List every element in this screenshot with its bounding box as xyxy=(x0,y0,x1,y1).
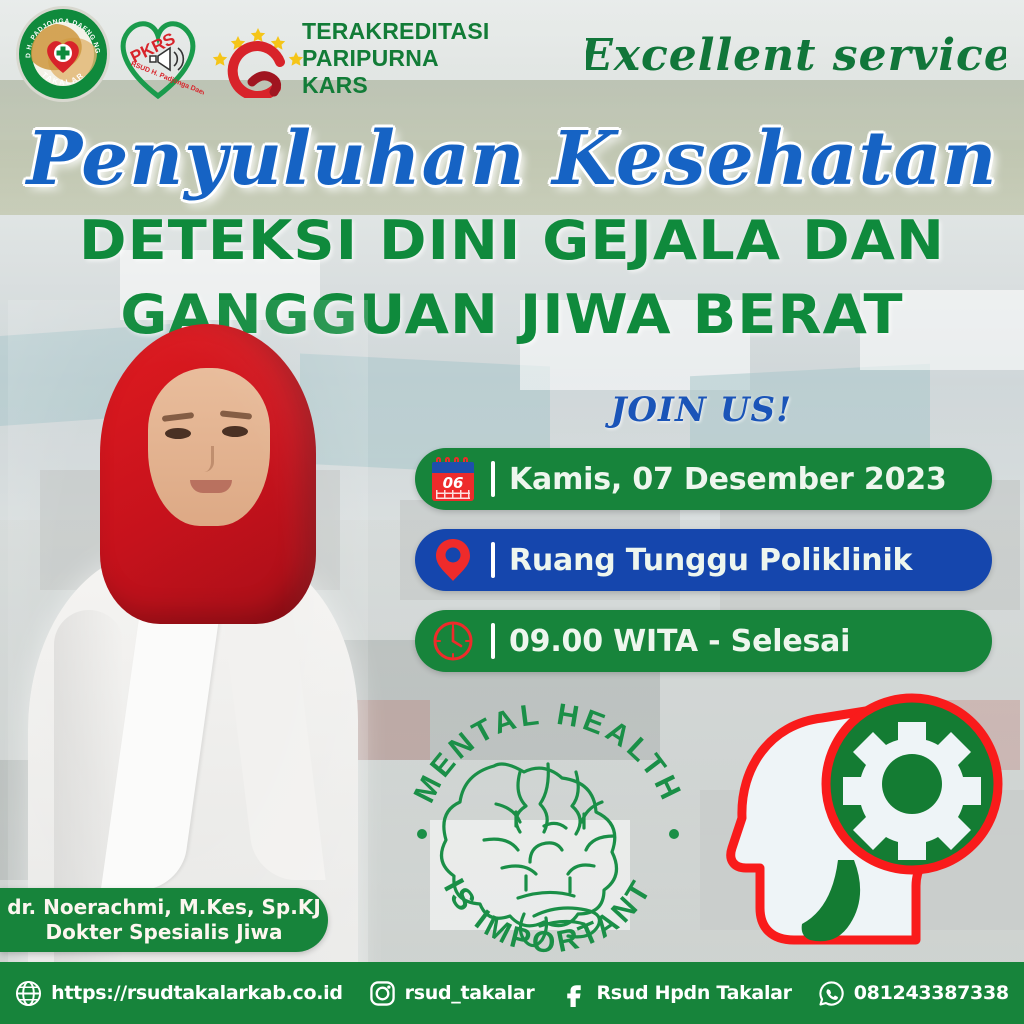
whatsapp-label: 081243387338 xyxy=(854,982,1009,1004)
accreditation-line-1: TERAKREDITASI xyxy=(302,18,489,45)
contact-footer: https://rsudtakalarkab.co.id rsud_takala… xyxy=(0,962,1024,1024)
footer-item-whatsapp[interactable]: 081243387338 xyxy=(818,980,1009,1007)
poster-header: RSUD H. PADJONGA DAENG NGALLE TAKALAR PK… xyxy=(0,0,1024,112)
tagline-text: Excellent service xyxy=(586,30,1006,81)
svg-text:IS IMPORTANT: IS IMPORTANT xyxy=(437,873,659,959)
head-with-gear-graphic xyxy=(726,672,1006,962)
pkrs-logo: PKRS RSUD H. Padjonga Daeng Ngalle xyxy=(112,10,204,102)
instagram-label: rsud_takalar xyxy=(405,982,535,1004)
accreditation-line-3: KARS xyxy=(302,72,489,99)
location-pin-icon xyxy=(415,529,491,591)
mental-health-bottom-text: IS IMPORTANT xyxy=(437,873,659,959)
whatsapp-icon xyxy=(818,980,845,1007)
speaker-name-banner: dr. Noerachmi, M.Kes, Sp.KJ Dokter Spesi… xyxy=(0,888,328,952)
event-location-text: Ruang Tunggu Poliklinik xyxy=(495,543,912,578)
accreditation-line-2: PARIPURNA xyxy=(302,45,489,72)
event-time-text: 09.00 WITA - Selesai xyxy=(495,624,850,659)
svg-text:MENTAL HEALTH: MENTAL HEALTH xyxy=(408,698,689,808)
health-promotion-poster: RSUD H. PADJONGA DAENG NGALLE TAKALAR PK… xyxy=(0,0,1024,1024)
excellent-service-tagline: Excellent service xyxy=(586,14,1006,96)
clock-icon xyxy=(415,610,491,672)
mental-health-badge: MENTAL HEALTH IS IMPORTANT xyxy=(398,686,698,966)
event-time-bar: 09.00 WITA - Selesai xyxy=(415,610,992,672)
event-date-text: Kamis, 07 Desember 2023 xyxy=(495,462,947,497)
event-date-bar: 06 Kamis, 07 Desember 2023 xyxy=(415,448,992,510)
gear-icon xyxy=(843,722,981,860)
footer-item-facebook[interactable]: Rsud Hpdn Takalar xyxy=(560,980,791,1007)
svg-text:TAKALAR: TAKALAR xyxy=(40,70,86,87)
facebook-icon xyxy=(560,980,587,1007)
globe-icon xyxy=(15,980,42,1007)
svg-text:RSUD H. PADJONGA DAENG NGALLE: RSUD H. PADJONGA DAENG NGALLE xyxy=(19,9,101,58)
hospital-seal-logo: RSUD H. PADJONGA DAENG NGALLE TAKALAR xyxy=(16,6,110,102)
seal-ring-text: RSUD H. PADJONGA DAENG NGALLE TAKALAR xyxy=(19,9,107,99)
footer-item-website[interactable]: https://rsudtakalarkab.co.id xyxy=(15,980,342,1007)
instagram-icon xyxy=(369,980,396,1007)
speaker-name: dr. Noerachmi, M.Kes, Sp.KJ xyxy=(7,895,321,920)
mental-health-top-text: MENTAL HEALTH xyxy=(408,698,689,808)
facebook-label: Rsud Hpdn Takalar xyxy=(596,982,791,1004)
website-label: https://rsudtakalarkab.co.id xyxy=(51,982,342,1004)
event-location-bar: Ruang Tunggu Poliklinik xyxy=(415,529,992,591)
footer-item-instagram[interactable]: rsud_takalar xyxy=(369,980,535,1007)
calendar-icon: 06 xyxy=(415,448,491,510)
join-us-label: JOIN US! xyxy=(610,390,792,430)
speaker-role: Dokter Spesialis Jiwa xyxy=(46,920,283,945)
accreditation-text: TERAKREDITASI PARIPURNA KARS xyxy=(302,18,489,99)
kars-accreditation-logo xyxy=(212,16,304,98)
subtitle-line-1: DETEKSI DINI GEJALA DAN xyxy=(0,214,1024,268)
page-title: Penyuluhan Kesehatan xyxy=(0,116,1024,202)
